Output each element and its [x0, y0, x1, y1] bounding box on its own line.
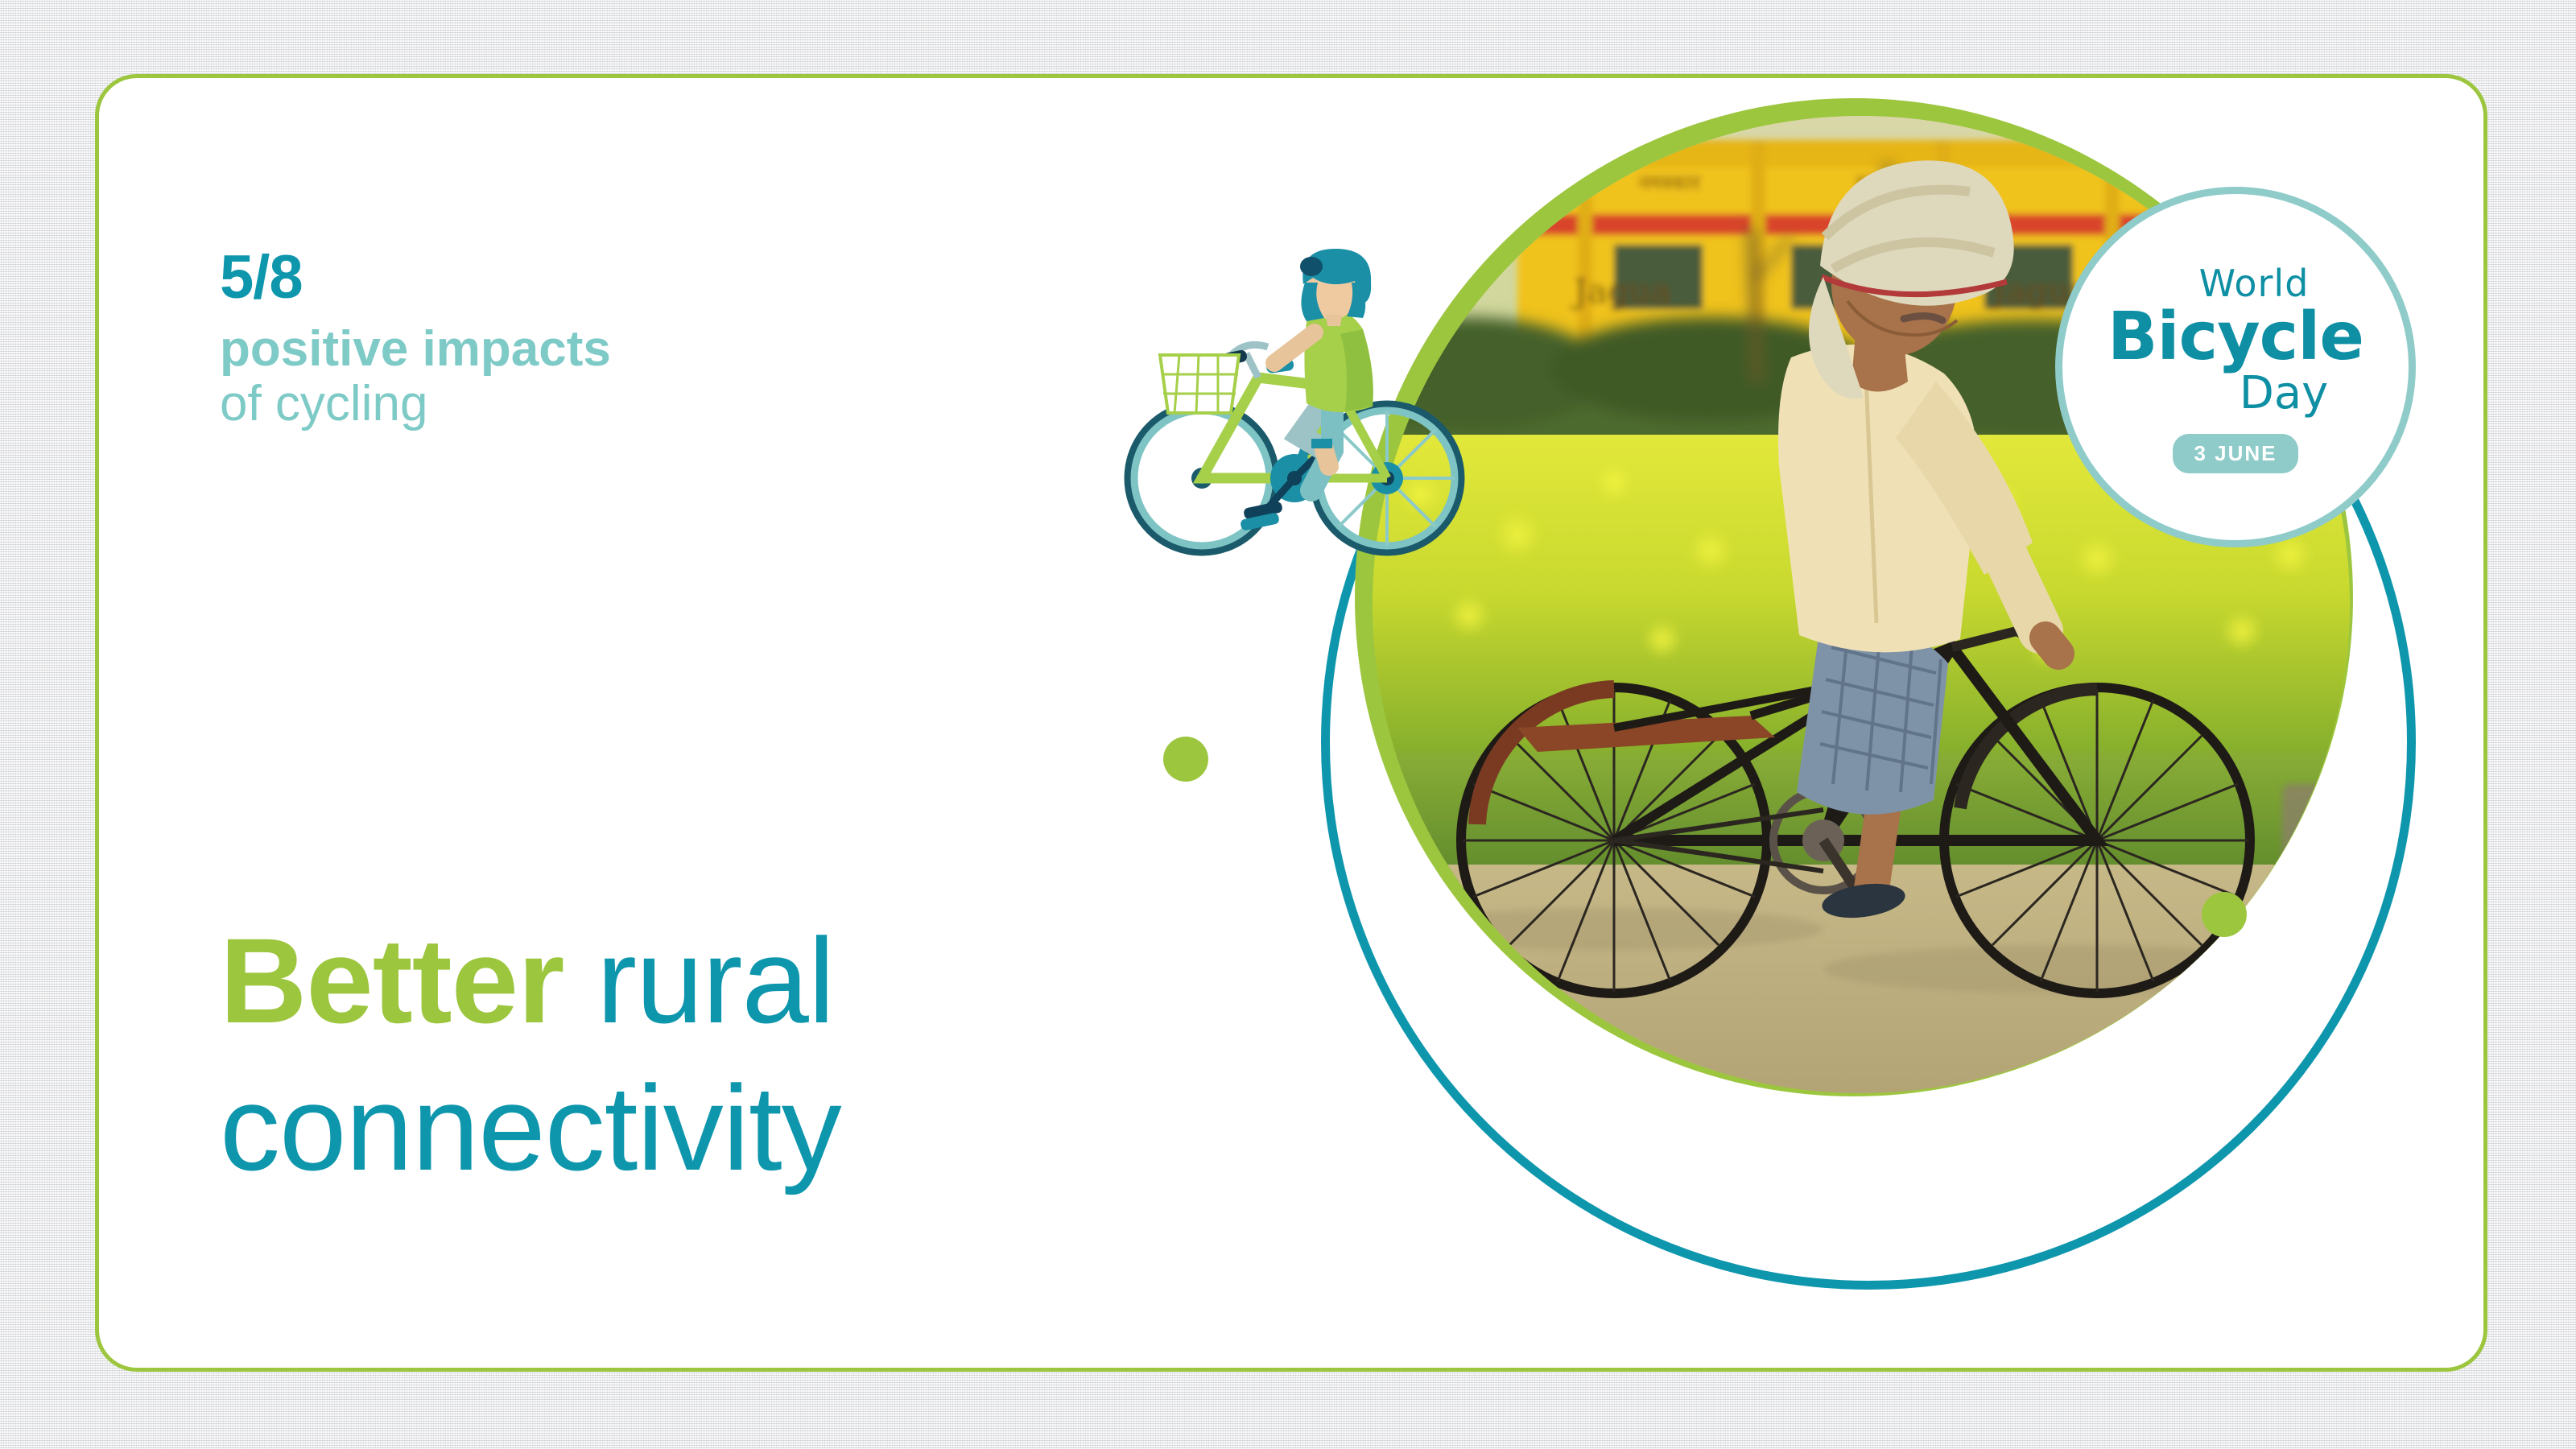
headline-emphasis: Better — [220, 913, 563, 1048]
svg-text:Jagua: Jagua — [1571, 271, 1671, 311]
world-bicycle-day-badge: World Bicycle Day 3 JUNE — [2055, 187, 2416, 547]
page-title: Better rural connectivity — [220, 907, 1282, 1202]
eyebrow-line-2: of cycling — [220, 375, 1146, 432]
slide-counter: 5/8 — [220, 247, 1146, 308]
slide-card: 5/8 positive impacts of cycling Better r… — [95, 74, 2487, 1372]
cyclist-illustration — [1121, 249, 1508, 571]
badge-word-bicycle: Bicycle — [2107, 299, 2363, 375]
text-column: 5/8 positive impacts of cycling — [220, 247, 1146, 432]
visual-group: Jagua Jagua Jag नमस्कार स्वागत — [1226, 78, 2487, 1372]
badge-date-pill: 3 JUNE — [2173, 434, 2297, 473]
eyebrow-line-1: positive impacts — [220, 323, 1146, 375]
decorative-dot-right — [2202, 892, 2247, 937]
badge-word-day: Day — [2240, 367, 2329, 419]
decorative-dot-left — [1163, 737, 1208, 782]
svg-text:नमस्कार: नमस्कार — [1638, 171, 1702, 196]
